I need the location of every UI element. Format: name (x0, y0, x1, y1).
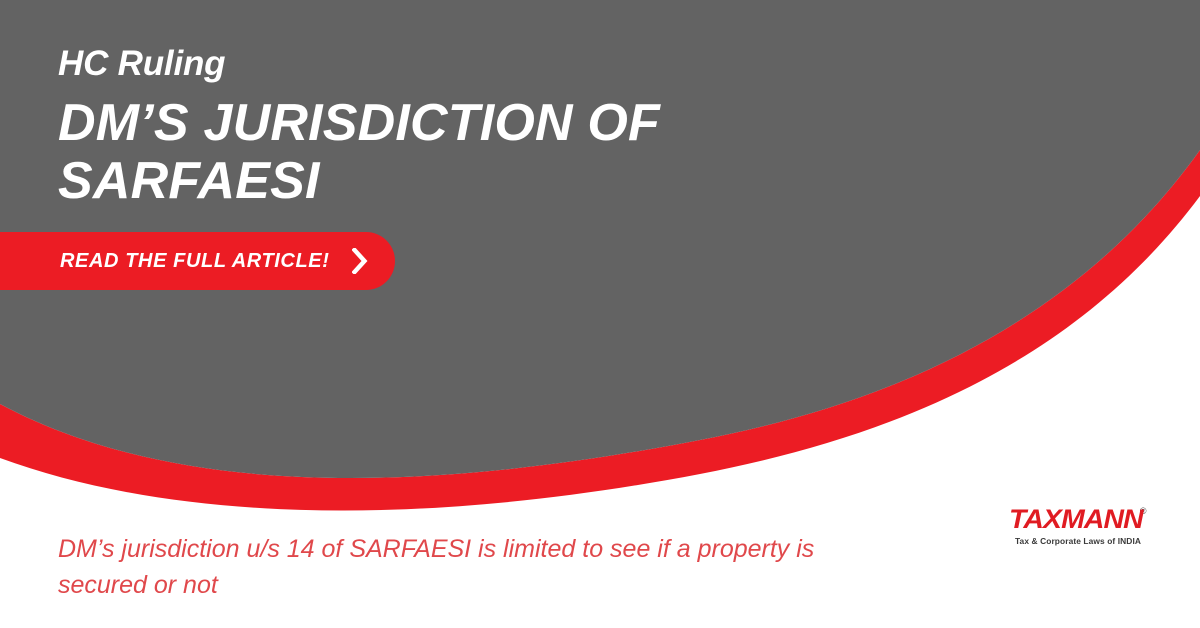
read-full-article-button[interactable]: READ THE FULL ARTICLE! (0, 232, 395, 290)
eyebrow-label: HC Ruling (58, 44, 858, 84)
chevron-right-icon (352, 248, 369, 274)
caption-text: DM’s jurisdiction u/s 14 of SARFAESI is … (58, 531, 848, 603)
hero-text-block: HC Ruling DM’S JURISDICTION OF SARFAESI (58, 44, 858, 210)
logo-tagline-text: Tax & Corporate Laws of INDIA (1014, 536, 1142, 547)
logo-wordmark-text: TAXMANN (1009, 506, 1143, 533)
logo-wordmark-row: TAXMANN ® (1014, 506, 1142, 533)
read-full-article-label: READ THE FULL ARTICLE! (60, 250, 330, 273)
taxmann-logo: TAXMANN ® Tax & Corporate Laws of INDIA (1014, 506, 1142, 547)
page-title: DM’S JURISDICTION OF SARFAESI (58, 94, 698, 210)
promo-banner: HC Ruling DM’S JURISDICTION OF SARFAESI … (0, 0, 1200, 628)
